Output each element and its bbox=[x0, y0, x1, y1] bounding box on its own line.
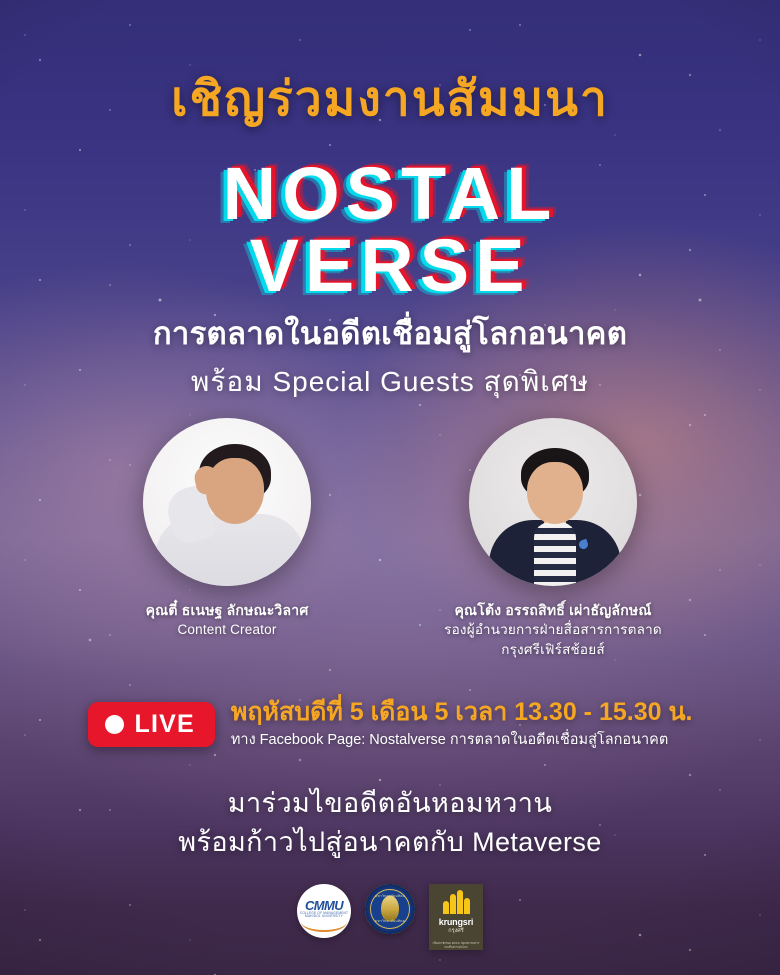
cmmu-swoosh-icon bbox=[301, 912, 347, 932]
speaker-name: คุณตี๋ ธเนษฐ ลักษณะวิลาศ bbox=[102, 600, 352, 620]
event-datetime: พฤหัสบดีที่ 5 เดือน 5 เวลา 13.30 - 15.30… bbox=[231, 698, 693, 728]
speaker-card: คุณโต้ง อรรถสิทธิ์ เผ่าธัญลักษณ์ รองผู้อ… bbox=[428, 418, 678, 659]
speaker-role-line: รองผู้อำนวยการฝ่ายสื่อสารการตลาด bbox=[428, 620, 678, 640]
seal-crest-icon bbox=[381, 895, 399, 921]
live-badge-label: LIVE bbox=[135, 712, 195, 737]
mahidol-seal-logo: มหาวิทยาลัยมหิดล มหาวิทยาลัยมหิดล bbox=[365, 884, 415, 934]
live-badge: LIVE bbox=[88, 702, 215, 747]
event-tagline: การตลาดในอดีตเชื่อมสู่โลกอนาคต bbox=[0, 308, 780, 358]
sponsor-logos: CMMU COLLEGE OF MANAGEMENT MAHIDOL UNIVE… bbox=[0, 884, 780, 950]
krungsri-logo-name: krungsri bbox=[429, 918, 483, 927]
special-guests-line: พร้อม Special Guests สุดพิเศษ bbox=[0, 360, 780, 404]
event-channel: ทาง Facebook Page: Nostalverse การตลาดใน… bbox=[231, 731, 693, 751]
closing-line-2: พร้อมก้าวไปสู่อนาคตกับ Metaverse bbox=[0, 823, 780, 862]
closing-line-1: มาร่วมไขอดีตอันหอมหวาน bbox=[0, 784, 780, 823]
krungsri-fine-print: เป็นสมาชิกของ MUFG กลุ่มสถาบันการเงินชั้… bbox=[429, 941, 483, 949]
portrait-striped-shirt bbox=[534, 522, 576, 586]
speaker-name: คุณโต้ง อรรถสิทธิ์ เผ่าธัญลักษณ์ bbox=[428, 600, 678, 620]
poster-content: เชิญร่วมงานสัมมนา NOSTAL VERSE การตลาดใน… bbox=[0, 0, 780, 975]
speaker-role-line: กรุงศรีเฟิร์สช้อยส์ bbox=[428, 640, 678, 660]
wordmark-line-verse: VERSE bbox=[0, 232, 780, 300]
krungsri-logo: krungsri กรุงศรี เป็นสมาชิกของ MUFG กลุ่… bbox=[429, 884, 483, 950]
seal-inner-disc: มหาวิทยาลัยมหิดล มหาวิทยาลัยมหิดล bbox=[370, 889, 410, 929]
portrait-face bbox=[527, 462, 583, 524]
speaker-portrait bbox=[469, 418, 637, 586]
closing-message: มาร่วมไขอดีตอันหอมหวาน พร้อมก้าวไปสู่อนา… bbox=[0, 784, 780, 863]
speaker-portrait bbox=[143, 418, 311, 586]
wordmark-line-nostal: NOSTAL bbox=[0, 160, 780, 228]
krungsri-mountain-icon bbox=[443, 890, 469, 914]
cmmu-logo: CMMU COLLEGE OF MANAGEMENT MAHIDOL UNIVE… bbox=[297, 884, 351, 938]
speaker-card: คุณตี๋ ธเนษฐ ลักษณะวิลาศ Content Creator bbox=[102, 418, 352, 659]
record-dot-icon bbox=[105, 715, 124, 734]
kicker-headline: เชิญร่วมงานสัมมนา bbox=[0, 76, 780, 124]
speakers-section: คุณตี๋ ธเนษฐ ลักษณะวิลาศ Content Creator… bbox=[0, 418, 780, 659]
speaker-role-line: Content Creator bbox=[102, 620, 352, 640]
live-schedule: พฤหัสบดีที่ 5 เดือน 5 เวลา 13.30 - 15.30… bbox=[231, 698, 693, 750]
live-info-row: LIVE พฤหัสบดีที่ 5 เดือน 5 เวลา 13.30 - … bbox=[0, 698, 780, 750]
event-wordmark: NOSTAL VERSE bbox=[0, 160, 780, 300]
krungsri-logo-thai: กรุงศรี bbox=[429, 929, 483, 935]
poster-canvas: เชิญร่วมงานสัมมนา NOSTAL VERSE การตลาดใน… bbox=[0, 0, 780, 975]
seal-bottom-text: มหาวิทยาลัยมหิดล bbox=[375, 919, 405, 924]
